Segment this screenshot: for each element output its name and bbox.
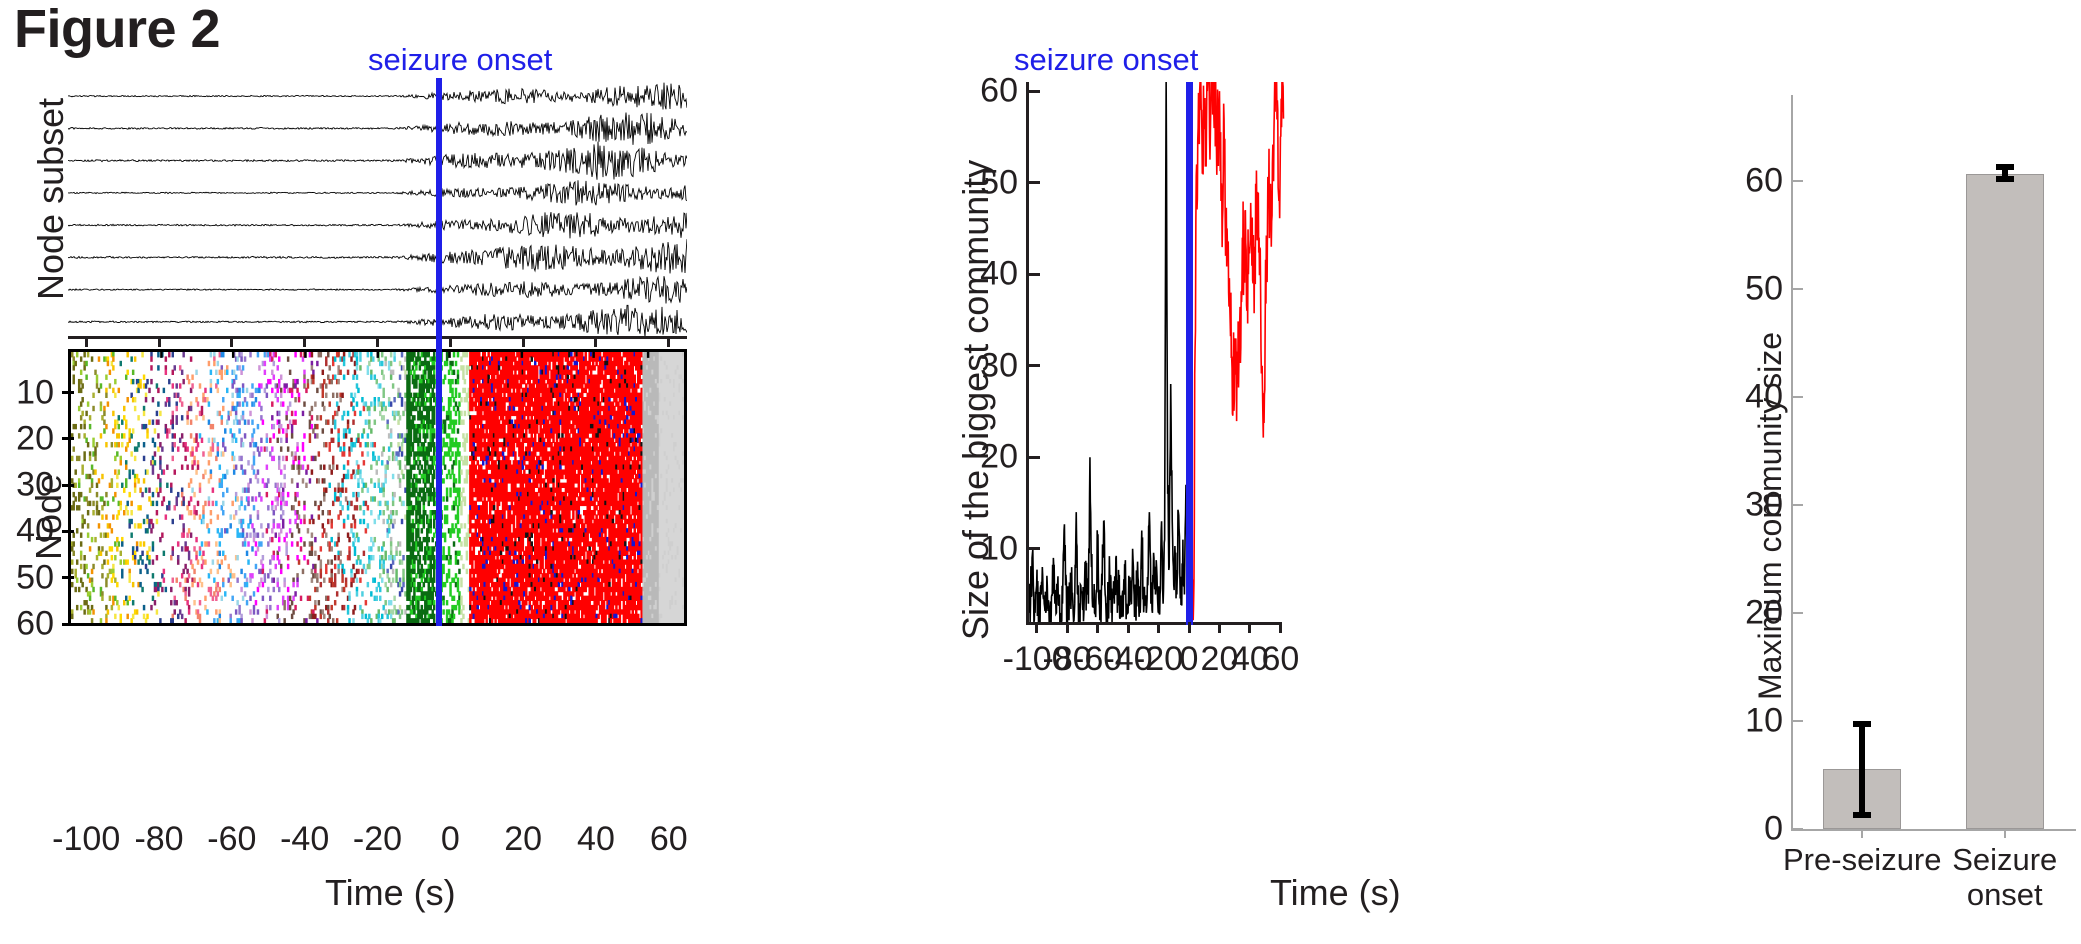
seizure-onset-label-b: seizure onset xyxy=(1014,42,1198,78)
biggest-community-x-axis-line xyxy=(1026,622,1282,625)
community-xtick-60: 60 xyxy=(650,820,688,859)
community-xtick--100: -100 xyxy=(52,820,120,859)
community-raster-canvas xyxy=(71,352,684,623)
max-community-ytick-30: 30 xyxy=(1745,486,1783,525)
seizure-onset-label-a: seizure onset xyxy=(368,42,552,78)
biggest-community-xtick-60: 60 xyxy=(1262,640,1300,679)
eeg-traces-svg xyxy=(68,80,687,338)
community-ytick-50: 50 xyxy=(16,558,54,597)
max-community-ytick-50: 50 xyxy=(1745,270,1783,309)
community-ytick-20: 20 xyxy=(16,419,54,458)
biggest-community-plot-area xyxy=(1029,82,1279,622)
biggest-community-xtick--20: -20 xyxy=(1134,640,1183,679)
biggest-community-ytick-40: 40 xyxy=(980,255,1018,294)
max-community-ytick-0: 0 xyxy=(1764,810,1783,849)
error-cap-top-1 xyxy=(1996,164,2014,170)
community-ytick-30: 30 xyxy=(16,466,54,505)
biggest-community-svg xyxy=(1029,82,1285,622)
biggest-community-ytick-60: 60 xyxy=(980,72,1018,111)
error-cap-bottom-1 xyxy=(1996,176,2014,182)
max-community-ytick-60: 60 xyxy=(1745,162,1783,201)
community-ytick-40: 40 xyxy=(16,512,54,551)
community-xtick--60: -60 xyxy=(207,820,256,859)
error-cap-bottom-0 xyxy=(1853,812,1871,818)
max-community-ytick-40: 40 xyxy=(1745,378,1783,417)
seizure-onset-marker-b xyxy=(1186,82,1193,625)
biggest-community-xtick-0: 0 xyxy=(1180,640,1199,679)
max-community-ytick-10: 10 xyxy=(1745,702,1783,741)
community-ytick-60: 60 xyxy=(16,605,54,644)
bar-category-label-1: Seizureonset xyxy=(1865,843,2081,912)
community-xtick-20: 20 xyxy=(504,820,542,859)
community-xtick-40: 40 xyxy=(577,820,615,859)
bar-1 xyxy=(1966,174,2044,829)
bar-chart-x-axis-line xyxy=(1791,829,2076,831)
community-x-axis-label: Time (s) xyxy=(325,872,456,914)
eeg-traces xyxy=(68,80,687,338)
eeg-y-axis-label: Node subset xyxy=(30,98,72,300)
community-xtick--20: -20 xyxy=(353,820,402,859)
biggest-community-ytick-50: 50 xyxy=(980,163,1018,202)
panel-eeg-and-communities: seizure onset Node subset Node -100-80-6… xyxy=(0,0,710,944)
biggest-community-ytick-20: 20 xyxy=(980,438,1018,477)
biggest-community-ytick-30: 30 xyxy=(980,346,1018,385)
community-xtick-0: 0 xyxy=(441,820,460,859)
error-cap-top-0 xyxy=(1853,721,1871,727)
biggest-community-x-axis-label: Time (s) xyxy=(1270,872,1401,914)
biggest-community-ytick-10: 10 xyxy=(980,529,1018,568)
community-ytick-10: 10 xyxy=(16,373,54,412)
seizure-onset-marker-a xyxy=(436,78,442,626)
community-raster-plot xyxy=(68,349,687,626)
community-xtick--40: -40 xyxy=(280,820,329,859)
error-bar-0 xyxy=(1859,723,1865,816)
max-community-ytick-20: 20 xyxy=(1745,594,1783,633)
community-xtick--80: -80 xyxy=(134,820,183,859)
